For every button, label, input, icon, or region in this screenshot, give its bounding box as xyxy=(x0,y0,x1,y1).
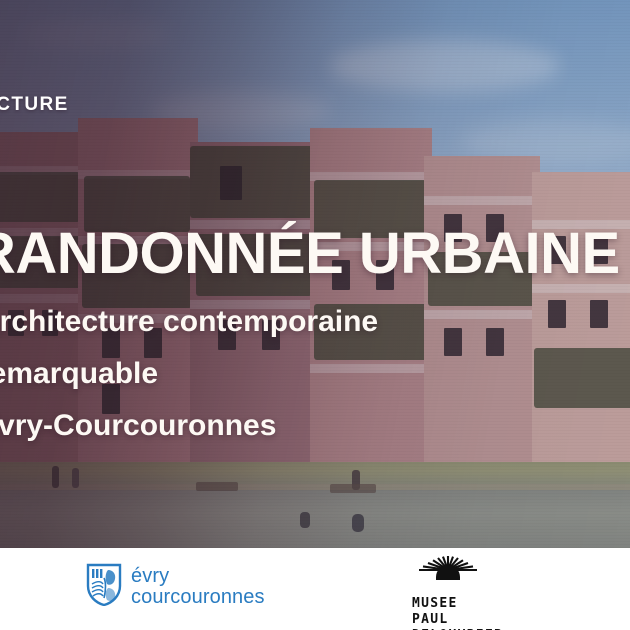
event-poster: ARCHITECTURE Dim 9h RANDONNÉE URBAINE Ar… xyxy=(0,0,630,630)
poster-subtitle: Architecture contemporaine remarquable É… xyxy=(0,296,378,452)
subtitle-line-3: Évry-Courcouronnes xyxy=(0,400,378,452)
musee-line-1: MUSEE xyxy=(412,596,503,612)
crest-leaf-icon xyxy=(86,562,122,611)
kicker-label: ARCHITECTURE xyxy=(0,94,69,116)
evry-line-2: courcouronnes xyxy=(131,587,265,608)
poster-title: RANDONNÉE URBAINE xyxy=(0,225,620,283)
musee-wordmark: MUSEE PAUL DELOUVRIER xyxy=(412,596,503,630)
musee-line-2: PAUL xyxy=(412,612,503,628)
subtitle-line-2: remarquable xyxy=(0,348,378,400)
logo-evry-courcouronnes[interactable]: évry courcouronnes xyxy=(86,562,265,611)
hero-photo: ARCHITECTURE Dim 9h RANDONNÉE URBAINE Ar… xyxy=(0,0,630,548)
subtitle-line-1: Architecture contemporaine xyxy=(0,296,378,348)
logo-musee-paul-delouvrier[interactable]: MUSEE PAUL DELOUVRIER xyxy=(412,556,503,630)
evry-line-1: évry xyxy=(131,566,265,587)
evry-wordmark: évry courcouronnes xyxy=(131,566,265,608)
sunburst-icon xyxy=(412,556,484,591)
footer-logo-bar: évry courcouronnes xyxy=(0,548,630,630)
